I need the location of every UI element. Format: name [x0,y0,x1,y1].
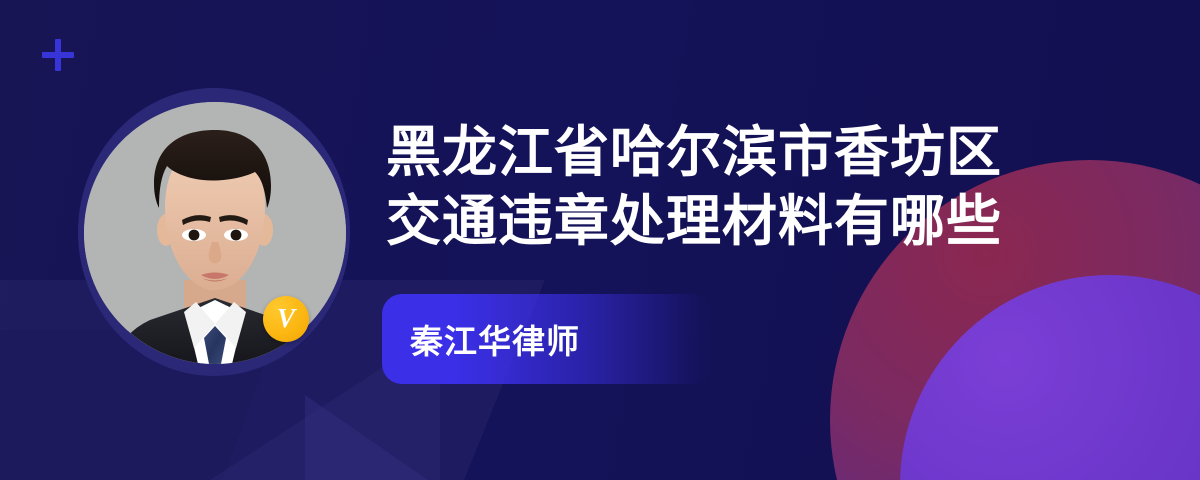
page-title: 黑龙江省哈尔滨市香坊区 交通违章处理材料有哪些 [386,118,1176,257]
lawyer-qa-banner: V 黑龙江省哈尔滨市香坊区 交通违章处理材料有哪些 秦江华律师 [0,0,1200,480]
page-title-line-1: 黑龙江省哈尔滨市香坊区 [386,118,1176,187]
content-block: 黑龙江省哈尔滨市香坊区 交通违章处理材料有哪些 秦江华律师 [386,118,1176,257]
page-title-line-2: 交通违章处理材料有哪些 [386,187,1176,256]
author-name-label: 秦江华律师 [382,315,580,363]
verified-badge-icon: V [263,296,309,342]
author-name-badge[interactable]: 秦江华律师 [382,294,712,384]
background-triangle-shape [305,395,435,480]
avatar: V [78,88,350,376]
plus-icon [42,39,74,71]
verified-badge-label: V [277,305,295,332]
